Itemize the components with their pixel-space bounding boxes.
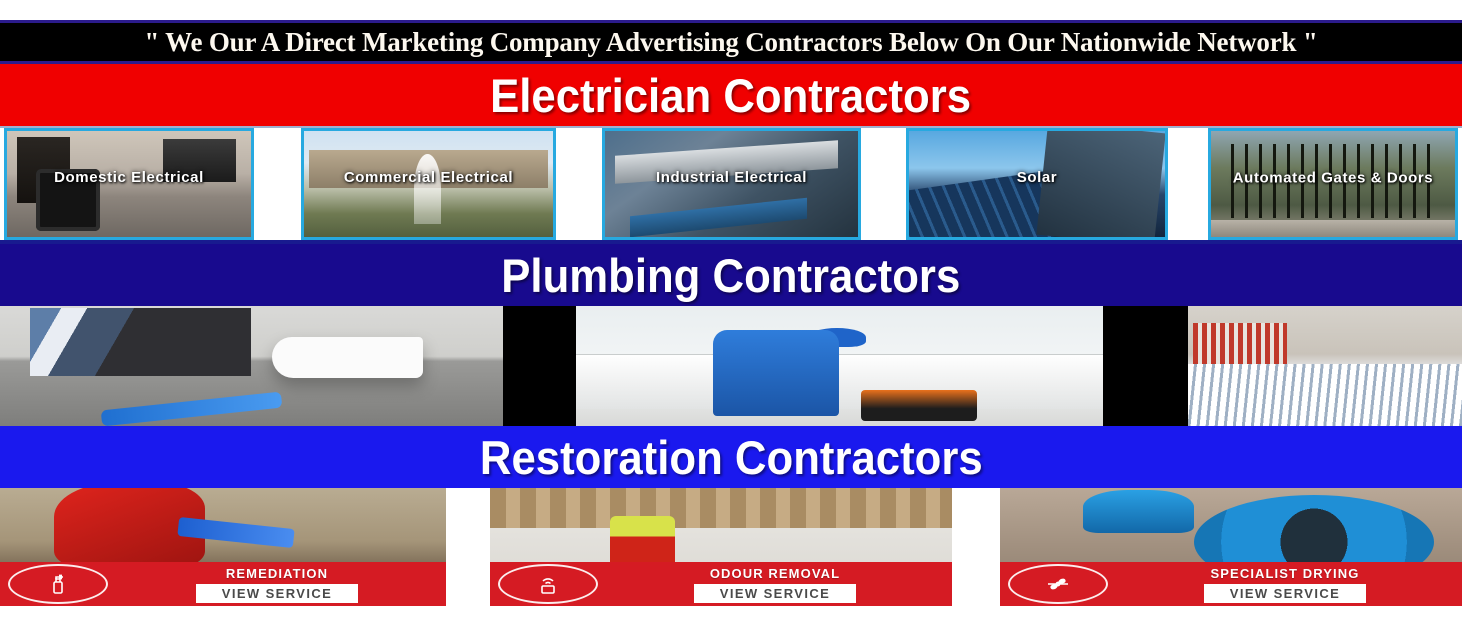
blue-cap-shape bbox=[808, 328, 866, 347]
tile-caption-domestic: Domestic Electrical bbox=[7, 170, 251, 186]
plumber-toilet-photo bbox=[0, 306, 503, 426]
tagline-bar: " We Our A Direct Marketing Company Adve… bbox=[0, 20, 1462, 64]
tile-underfloor-heating[interactable] bbox=[1188, 306, 1462, 426]
section-title-plumbing: Plumbing Contractors bbox=[502, 252, 961, 299]
plumber-kitchen-photo bbox=[576, 306, 1103, 426]
specialist-drying-label: SPECIALIST DRYING bbox=[1211, 566, 1360, 581]
blue-tool-shape bbox=[100, 391, 282, 425]
odour-emitter-icon bbox=[498, 564, 598, 604]
fan-propeller-icon bbox=[1008, 564, 1108, 604]
tile-plumber-toilet[interactable] bbox=[0, 306, 503, 426]
odour-removal-label: ODOUR REMOVAL bbox=[710, 566, 840, 581]
remediation-label: REMEDIATION bbox=[226, 566, 328, 581]
tile-caption-commercial: Commercial Electrical bbox=[304, 170, 553, 186]
odour-removal-view-service-button[interactable]: VIEW SERVICE bbox=[694, 584, 856, 603]
tile-remediation[interactable]: REMEDIATION VIEW SERVICE bbox=[0, 488, 446, 606]
tile-caption-solar: Solar bbox=[909, 170, 1165, 186]
section-banner-electrician: Electrician Contractors bbox=[0, 64, 1462, 126]
specialist-drying-footer: SPECIALIST DRYING VIEW SERVICE bbox=[1000, 562, 1462, 606]
section-title-electrician: Electrician Contractors bbox=[491, 72, 972, 119]
advert-page: " We Our A Direct Marketing Company Adve… bbox=[0, 0, 1462, 624]
toolbag-shape bbox=[861, 390, 977, 421]
remediation-view-service-button[interactable]: VIEW SERVICE bbox=[196, 584, 358, 603]
tile-commercial-electrical[interactable]: Commercial Electrical bbox=[301, 128, 556, 240]
tile-caption-industrial: Industrial Electrical bbox=[605, 170, 858, 186]
tile-domestic-electrical[interactable]: Domestic Electrical bbox=[4, 128, 254, 240]
underfloor-heating-photo bbox=[1188, 306, 1462, 426]
restoration-tile-strip: REMEDIATION VIEW SERVICE ODOUR REMOVAL V… bbox=[0, 488, 1462, 606]
tile-industrial-electrical[interactable]: Industrial Electrical bbox=[602, 128, 861, 240]
tile-specialist-drying[interactable]: SPECIALIST DRYING VIEW SERVICE bbox=[1000, 488, 1462, 606]
section-banner-plumbing: Plumbing Contractors bbox=[0, 244, 1462, 306]
section-title-restoration: Restoration Contractors bbox=[480, 434, 983, 481]
top-gutter bbox=[0, 0, 1462, 20]
specialist-drying-text-group: SPECIALIST DRYING VIEW SERVICE bbox=[1108, 566, 1462, 603]
tile-odour-removal[interactable]: ODOUR REMOVAL VIEW SERVICE bbox=[490, 488, 952, 606]
tile-automated-gates[interactable]: Automated Gates & Doors bbox=[1208, 128, 1458, 240]
tile-solar[interactable]: Solar bbox=[906, 128, 1168, 240]
electrician-tile-strip: Domestic Electrical Commercial Electrica… bbox=[0, 126, 1462, 244]
spray-bottle-icon bbox=[8, 564, 108, 604]
plumbing-tile-strip bbox=[0, 306, 1462, 426]
tagline-text: " We Our A Direct Marketing Company Adve… bbox=[144, 27, 1317, 58]
section-banner-restoration: Restoration Contractors bbox=[0, 426, 1462, 488]
tile-plumber-kitchen[interactable] bbox=[576, 306, 1103, 426]
remediation-text-group: REMEDIATION VIEW SERVICE bbox=[108, 566, 446, 603]
remediation-footer: REMEDIATION VIEW SERVICE bbox=[0, 562, 446, 606]
odour-removal-text-group: ODOUR REMOVAL VIEW SERVICE bbox=[598, 566, 952, 603]
tile-caption-gates: Automated Gates & Doors bbox=[1211, 169, 1455, 186]
odour-removal-footer: ODOUR REMOVAL VIEW SERVICE bbox=[490, 562, 952, 606]
specialist-drying-view-service-button[interactable]: VIEW SERVICE bbox=[1204, 584, 1366, 603]
